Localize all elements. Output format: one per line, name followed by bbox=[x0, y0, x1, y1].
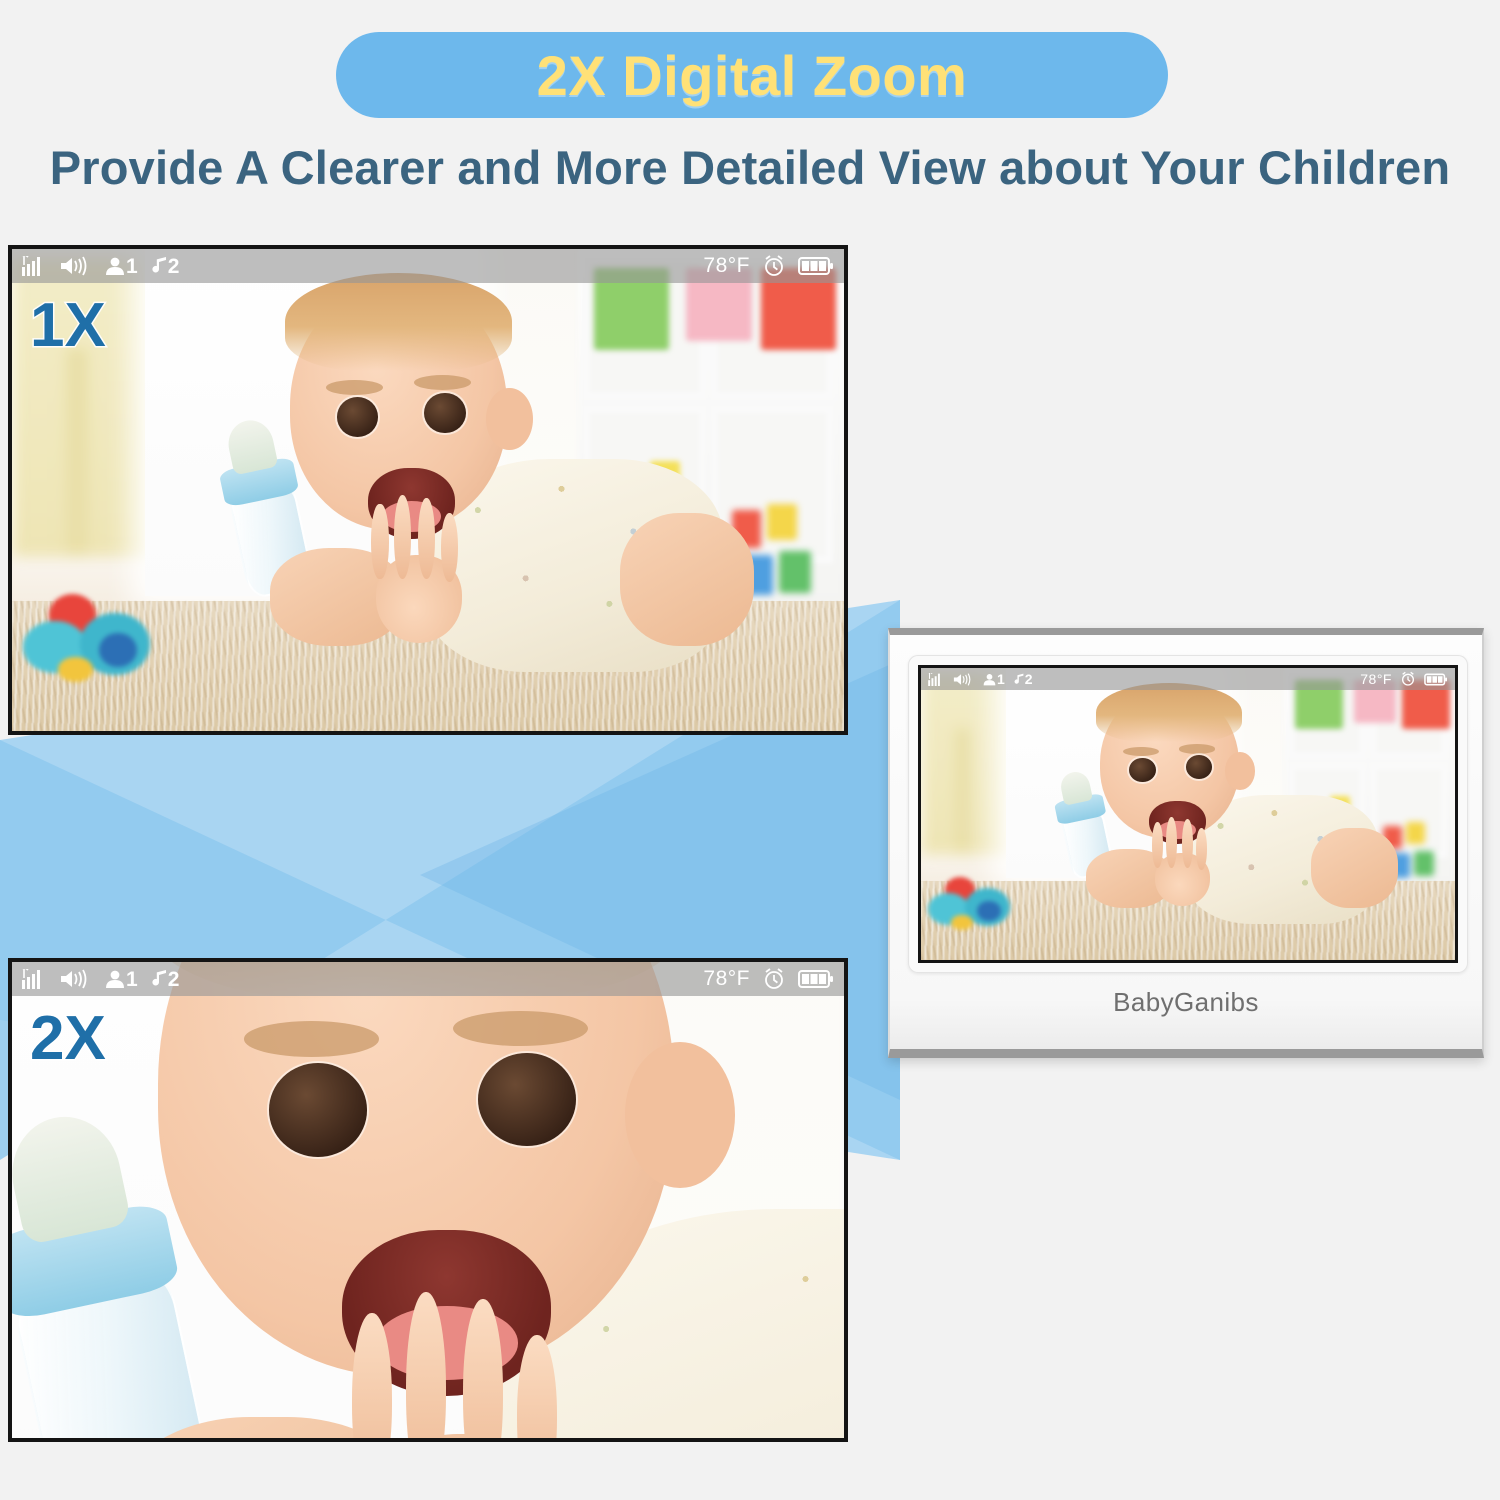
status-bar-zoomed: 1 2 78°F bbox=[12, 962, 844, 996]
camera-status: 1 bbox=[104, 969, 138, 990]
signal-bars-icon bbox=[928, 673, 944, 686]
camera-icon bbox=[104, 256, 126, 276]
zoom-level-label-1x: 1X bbox=[30, 295, 106, 357]
alarm-clock-icon bbox=[1400, 671, 1416, 687]
camera-count: 1 bbox=[126, 256, 138, 277]
signal-bars-icon bbox=[22, 256, 46, 276]
battery-icon bbox=[798, 256, 834, 276]
battery-icon bbox=[798, 969, 834, 989]
device-screen-bezel: 1 2 78°F bbox=[908, 655, 1468, 973]
page-subtitle: Provide A Clearer and More Detailed View… bbox=[0, 140, 1500, 195]
speaker-volume-icon bbox=[60, 256, 90, 276]
signal-bars-icon bbox=[22, 969, 46, 989]
music-status: 2 bbox=[152, 256, 180, 277]
zoom-level-label-2x: 2X bbox=[30, 1008, 106, 1070]
camera-icon bbox=[982, 673, 997, 686]
baby-monitor-device: 1 2 78°F bbox=[888, 628, 1484, 1058]
music-note-icon bbox=[1014, 673, 1025, 686]
temperature-reading: 78°F bbox=[703, 254, 750, 278]
device-brand-label: BabyGanibs bbox=[890, 987, 1482, 1018]
device-screen: 1 2 78°F bbox=[918, 665, 1458, 963]
speaker-volume-icon bbox=[60, 969, 90, 989]
music-count: 2 bbox=[1025, 672, 1033, 686]
nursery-photo-1x bbox=[12, 249, 844, 731]
music-count: 2 bbox=[168, 256, 180, 277]
camera-status: 1 bbox=[104, 256, 138, 277]
wide-view-screen: 1 2 78°F bbox=[8, 245, 848, 735]
status-bar-wide: 1 2 78°F bbox=[12, 249, 844, 283]
camera-icon bbox=[104, 969, 126, 989]
feature-banner: 2X Digital Zoom bbox=[336, 32, 1168, 118]
temperature-reading: 78°F bbox=[1360, 671, 1392, 687]
banner-title: 2X Digital Zoom bbox=[537, 43, 968, 108]
promo-image: 2X Digital Zoom Provide A Clearer and Mo… bbox=[0, 0, 1500, 1500]
status-bar-device: 1 2 78°F bbox=[921, 668, 1455, 690]
zoomed-view-screen: 1 2 78°F bbox=[8, 958, 848, 1442]
alarm-clock-icon bbox=[762, 254, 786, 278]
music-status: 2 bbox=[1014, 672, 1033, 686]
nursery-photo-2x bbox=[12, 962, 844, 1438]
battery-icon bbox=[1424, 673, 1448, 686]
music-note-icon bbox=[152, 256, 168, 276]
nursery-photo-device bbox=[921, 668, 1455, 960]
speaker-volume-icon bbox=[953, 673, 973, 686]
alarm-clock-icon bbox=[762, 967, 786, 991]
temperature-reading: 78°F bbox=[703, 967, 750, 991]
music-note-icon bbox=[152, 969, 168, 989]
music-status: 2 bbox=[152, 969, 180, 990]
camera-status: 1 bbox=[982, 672, 1005, 686]
music-count: 2 bbox=[168, 969, 180, 990]
camera-count: 1 bbox=[126, 969, 138, 990]
camera-count: 1 bbox=[997, 672, 1005, 686]
